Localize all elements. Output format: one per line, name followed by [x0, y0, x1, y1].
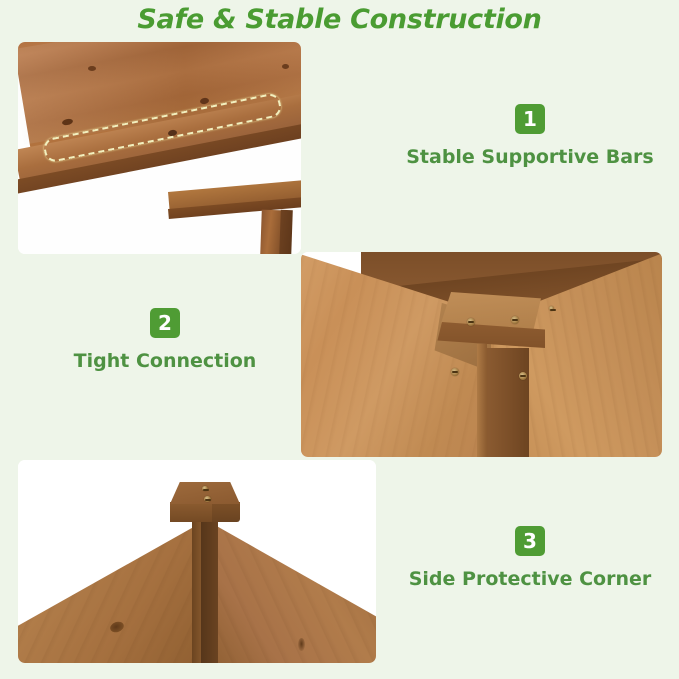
page-title: Safe & Stable Construction	[0, 4, 679, 35]
corner-post	[481, 348, 529, 457]
feature-block-3: 3 Side Protective Corner	[405, 526, 655, 591]
corner-post-face	[201, 508, 218, 663]
feature-number-badge-3: 3	[515, 526, 545, 556]
feature-photo-3	[18, 460, 376, 663]
feature-number-badge-2: 2	[150, 308, 180, 338]
wood-knot	[88, 66, 96, 71]
feature-number-badge-1: 1	[515, 104, 545, 134]
protective-cap-face	[170, 502, 212, 522]
feature-block-2: 2 Tight Connection	[40, 308, 290, 373]
feature-label-1: Stable Supportive Bars	[405, 146, 655, 169]
screw-icon	[451, 368, 459, 376]
screw-icon	[549, 306, 554, 311]
feature-photo-1	[18, 42, 301, 254]
screw-icon	[204, 496, 211, 502]
feature-block-1: 1 Stable Supportive Bars	[405, 104, 655, 169]
screw-icon	[202, 486, 208, 491]
infographic-page: Safe & Stable Construction	[0, 0, 679, 679]
table-leg-shadow	[279, 210, 293, 254]
wood-knot	[298, 638, 305, 651]
photo-corner-post	[18, 460, 376, 663]
feature-label-3: Side Protective Corner	[405, 568, 655, 591]
feature-photo-2	[301, 252, 662, 457]
screw-icon	[511, 316, 519, 324]
screw-icon	[467, 318, 475, 326]
feature-label-2: Tight Connection	[40, 350, 290, 373]
photo-box-corner	[301, 252, 662, 457]
screw-icon	[519, 372, 527, 380]
corner-post-edge	[477, 344, 487, 457]
photo-table-underside	[18, 42, 301, 254]
wood-knot	[282, 64, 289, 69]
